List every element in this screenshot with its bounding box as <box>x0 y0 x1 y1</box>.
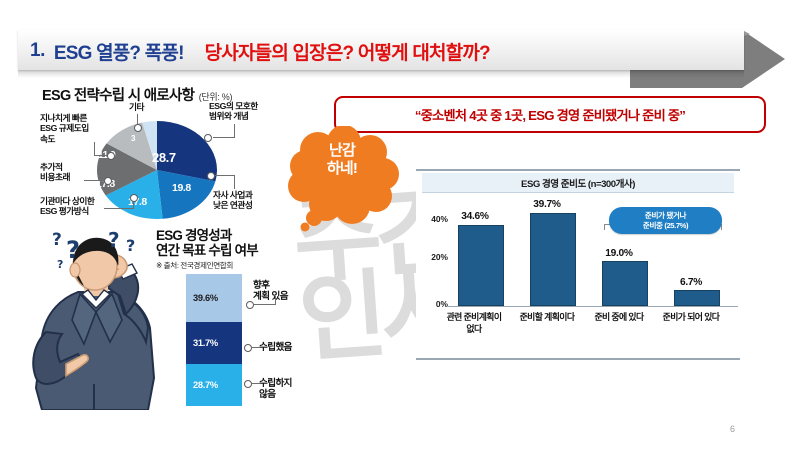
page-number: 6 <box>730 424 735 434</box>
stacked-label-future: 향후계획 있음 <box>253 280 288 302</box>
pie-leader-dot-scope <box>204 134 212 142</box>
orange-speech-bubble <box>288 126 400 232</box>
bar-chart-baseline <box>448 306 738 307</box>
question-mark-icon-1: ? <box>52 230 62 250</box>
pie-chart <box>96 120 218 220</box>
bar-no-plan <box>458 225 504 307</box>
pie-leader-dot-eval <box>130 194 138 202</box>
slide-title: 1. ESG 열풍? 폭풍! 당사자들의 입장은? 어떻게 대처할까? <box>30 33 490 69</box>
pie-value-28: 28.7 <box>152 150 176 165</box>
pie-leader-dot-cost <box>104 177 112 185</box>
bar-chart-title: ESG 경영 준비도 (n=300개사) <box>521 176 635 190</box>
question-mark-icon-2: ? <box>66 236 80 264</box>
pie-leader-dot-etc <box>134 124 142 132</box>
pie-value-3: 3 <box>131 134 135 143</box>
title-blue-text: ESG 열풍? 폭풍! <box>54 38 184 65</box>
bar-will-plan <box>530 213 576 307</box>
title-red-text: 당사자들의 입장은? 어떻게 대처할까? <box>205 38 490 65</box>
question-mark-icon-4: ? <box>126 236 135 255</box>
pie-leader-dot-rel <box>207 172 215 180</box>
pie-leader-cost <box>84 180 106 181</box>
stacked-bar-chart: 39.6% 31.7% 28.7% <box>186 274 242 406</box>
pie-label-cost: 추가적비용초래 <box>40 162 70 183</box>
stacked-leader-dot-none <box>244 380 252 388</box>
y-tick-20: 20% <box>424 252 448 262</box>
pie-leader-scope-h <box>213 137 235 138</box>
question-mark-icon-3: ? <box>108 228 120 252</box>
red-callout-text: “중소벤처 4곳 중 1곳, ESG 경영 준비됐거나 준비 중” <box>415 105 685 124</box>
title-banner-shadow <box>18 70 744 78</box>
slide-canvas: 주간인사 1. ESG 열풍? 폭풍! 당사자들의 입장은? 어떻게 대처할까?… <box>0 0 800 450</box>
stacked-segment-future: 39.6% <box>186 274 242 322</box>
badge-line1: 준비가 됐거나 <box>645 211 686 220</box>
pie-label-evalmethod: 기관마다 상이한ESG 평가방식 <box>40 196 94 217</box>
stacked-chart-heading: ESG 경영성과 연간 목표 수립 여부 ※ 출처: 전국경제인연합회 <box>156 228 258 271</box>
stacked-leader-dot-future <box>246 301 254 309</box>
stacked-value-future: 39.6% <box>193 293 218 303</box>
pie-value-19: 19.8 <box>172 182 191 194</box>
pie-leader-rel-h <box>215 175 235 176</box>
bar-ready <box>674 290 720 306</box>
pie-leader-rel-v <box>234 176 235 189</box>
bar-value-ready: 6.7% <box>658 277 724 288</box>
bar-value-no-plan: 34.6% <box>442 211 508 222</box>
stacked-heading-line1: ESG 경영성과 <box>156 228 258 243</box>
stacked-value-none: 28.7% <box>193 380 218 390</box>
pie-label-scope: ESG의 모호한범위와 개념 <box>209 101 258 122</box>
pie-leader-scope-v <box>234 124 235 138</box>
badge-line2: 준비중 (25.7%) <box>643 221 688 230</box>
pie-label-etc: 기타 <box>129 102 144 112</box>
stacked-label-established: 수립했음 <box>259 342 292 353</box>
pie-leader-eval-h <box>104 208 134 209</box>
bar-value-in-progress: 19.0% <box>586 248 652 259</box>
stacked-leader-future-h <box>254 304 276 305</box>
pie-label-relevance: 자사 사업과낮은 연관성 <box>213 190 252 211</box>
stacked-leader-future-v <box>275 296 276 305</box>
bar-chart-title-band: ESG 경영 준비도 (n=300개사) <box>422 173 734 193</box>
pie-leader-reg-v <box>94 142 95 156</box>
question-mark-icon-5: ? <box>57 258 63 271</box>
stacked-leader-none <box>252 383 260 384</box>
bar-value-will-plan: 39.7% <box>514 199 580 210</box>
readiness-annotation-badge: 준비가 됐거나 준비중 (25.7%) <box>609 207 722 234</box>
pie-heading-text: ESG 전략수립 시 애로사항 <box>42 88 194 104</box>
stacked-value-established: 31.7% <box>193 338 218 348</box>
stacked-segment-none: 28.7% <box>186 364 242 406</box>
stacked-heading-line2: 연간 목표 수립 여부 <box>156 243 258 258</box>
y-tick-0: 0% <box>424 299 448 309</box>
panel-bottom-rule <box>416 358 740 360</box>
pie-label-regspeed: 지나치게 빠른ESG 규제도입속도 <box>40 113 89 144</box>
pie-leader-dot-reg <box>107 152 115 160</box>
stacked-source-note: ※ 출처: 전국경제인연합회 <box>156 260 258 271</box>
stacked-leader-established <box>252 347 260 348</box>
stacked-label-none: 수립하지않음 <box>259 378 292 400</box>
bar-xlabel-ready: 준비가 되어 있다 <box>644 312 738 324</box>
stacked-leader-dot-established <box>244 344 252 352</box>
stacked-segment-established: 31.7% <box>186 322 242 364</box>
title-number: 1. <box>30 40 45 62</box>
bar-in-progress <box>602 261 648 306</box>
panel-top-rule <box>416 169 740 171</box>
annotation-bracket-left-tick <box>604 224 605 230</box>
